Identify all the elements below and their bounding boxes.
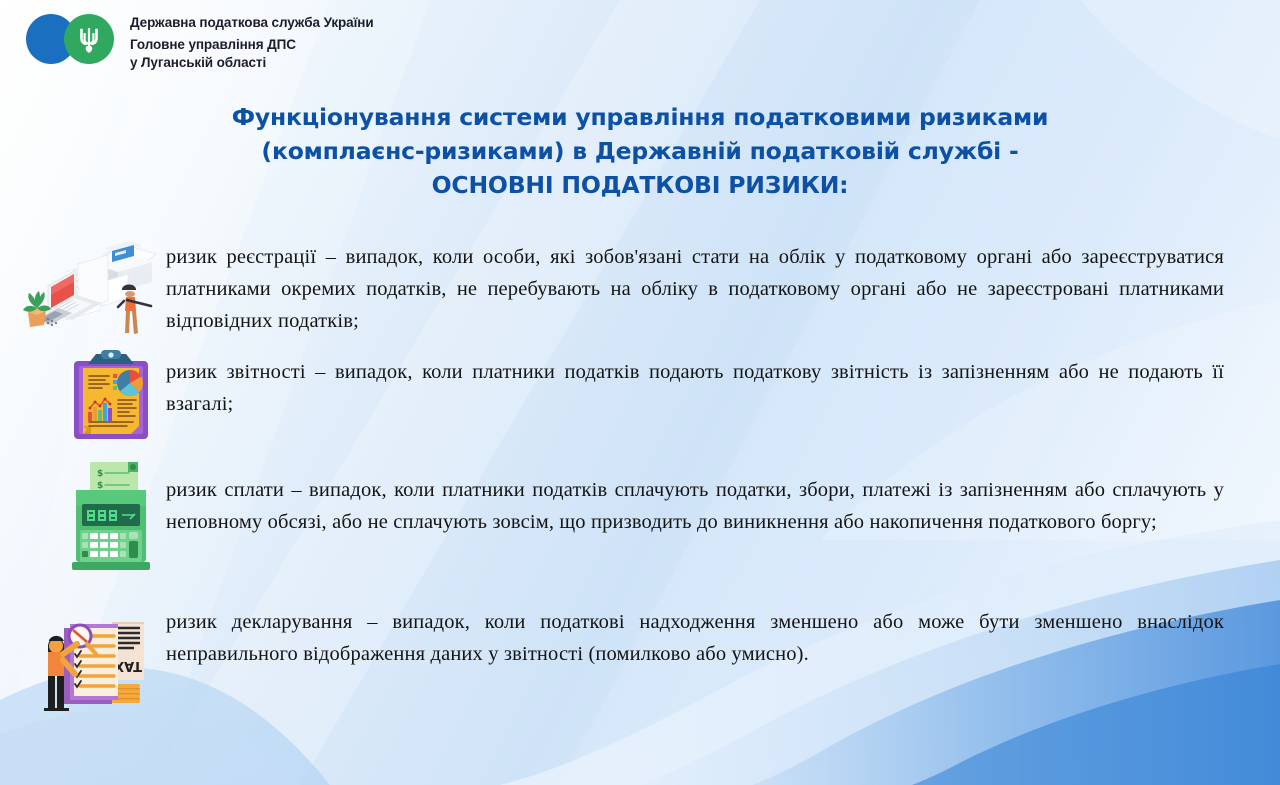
header-brand: Державна податкова служба України Головн… bbox=[26, 8, 374, 71]
org-name-line2: Головне управління ДПС bbox=[130, 36, 374, 53]
office-documents-illustration bbox=[22, 242, 162, 340]
risk-text-payment: ризик сплати – випадок, коли платники по… bbox=[166, 474, 1224, 538]
risk-item-declaration: TAX bbox=[0, 606, 1280, 726]
risk-text-declaration: ризик декларування – випадок, коли подат… bbox=[166, 606, 1224, 670]
risk-text-reporting: ризик звітності – випадок, коли платники… bbox=[166, 356, 1224, 420]
title-line-1: Функціонування системи управління податк… bbox=[0, 100, 1280, 134]
org-name-line3: у Луганській області bbox=[130, 54, 374, 71]
svg-text:$: $ bbox=[97, 481, 103, 491]
title-line-3: ОСНОВНІ ПОДАТКОВІ РИЗИКИ: bbox=[0, 168, 1280, 202]
page-title: Функціонування системи управління податк… bbox=[0, 100, 1280, 202]
svg-text:TAX: TAX bbox=[114, 658, 142, 673]
risk-item-reporting: ризик звітності – випадок, коли платники… bbox=[0, 356, 1280, 468]
cash-register-illustration: $ $ bbox=[66, 452, 156, 576]
tax-audit-checklist-illustration: TAX bbox=[36, 616, 160, 711]
logo-marks bbox=[26, 8, 130, 70]
org-name-line1: Державна податкова служба України bbox=[130, 14, 374, 31]
risk-list: ризик реєстрації – випадок, коли особи, … bbox=[0, 236, 1280, 726]
risk-text-registration: ризик реєстрації – випадок, коли особи, … bbox=[166, 241, 1224, 337]
risk-item-registration: ризик реєстрації – випадок, коли особи, … bbox=[0, 236, 1280, 356]
svg-text:$: $ bbox=[97, 469, 103, 479]
risk-item-payment: $ $ bbox=[0, 468, 1280, 606]
green-circle-icon bbox=[64, 14, 114, 64]
title-line-2: (комплаєнс-ризиками) в Державній податко… bbox=[0, 134, 1280, 168]
ukraine-trident-icon bbox=[78, 25, 100, 53]
header-text-block: Державна податкова служба України Головн… bbox=[130, 8, 374, 71]
slide-canvas: Державна податкова служба України Головн… bbox=[0, 0, 1280, 785]
clipboard-report-illustration bbox=[68, 348, 154, 443]
